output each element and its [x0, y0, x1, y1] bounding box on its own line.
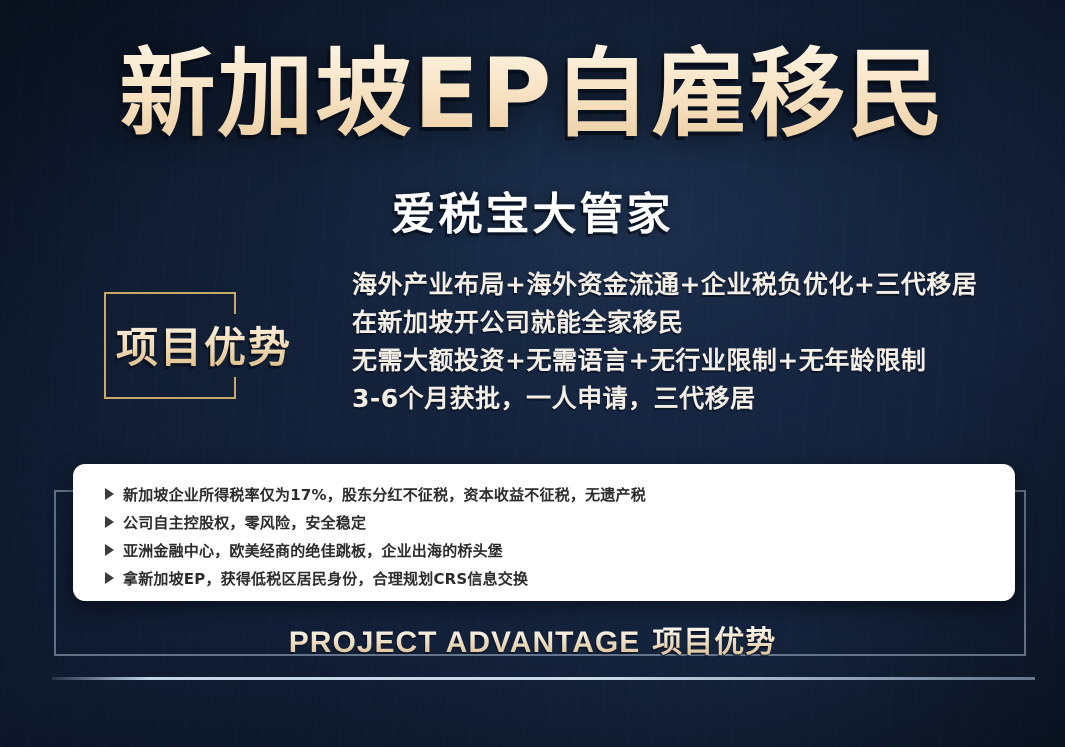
feature-line: 3-6个月获批，一人申请，三代移居 — [352, 380, 977, 418]
feature-line: 海外产业布局+海外资金流通+企业税负优化+三代移居 — [352, 266, 977, 304]
list-item-label: 亚洲金融中心，欧美经商的绝佳跳板，企业出海的桥头堡 — [123, 540, 503, 561]
feature-line: 在新加坡开公司就能全家移民 — [352, 304, 977, 342]
frame-corner-bottom-right-vertical — [234, 377, 236, 399]
triangle-bullet-icon — [105, 488, 114, 500]
feature-line: 无需大额投资+无需语言+无行业限制+无年龄限制 — [352, 342, 977, 380]
list-item-label: 新加坡企业所得税率仅为17%，股东分红不征税，资本收益不征税，无遗产税 — [123, 484, 646, 505]
footer-divider — [52, 677, 1035, 680]
feature-list: 海外产业布局+海外资金流通+企业税负优化+三代移居 在新加坡开公司就能全家移民 … — [352, 266, 977, 418]
list-item: 亚洲金融中心，欧美经商的绝佳跳板，企业出海的桥头堡 — [73, 536, 1015, 564]
footer-caption-en: PROJECT ADVANTAGE — [289, 626, 640, 659]
page-subtitle: 爱税宝大管家 — [0, 178, 1065, 242]
list-item-label: 公司自主控股权，零风险，安全稳定 — [123, 512, 366, 533]
page-title: 新加坡EP自雇移民 — [0, 44, 1065, 146]
triangle-bullet-icon — [105, 544, 114, 556]
triangle-bullet-icon — [105, 516, 114, 528]
advantages-card: 新加坡企业所得税率仅为17%，股东分红不征税，资本收益不征税，无遗产税 公司自主… — [73, 464, 1015, 601]
frame-corner-bottom-right — [204, 397, 234, 399]
poster-canvas: 新加坡EP自雇移民 爱税宝大管家 项目优势 海外产业布局+海外资金流通+企业税负… — [0, 0, 1065, 747]
project-advantage-badge: 项目优势 — [104, 292, 234, 399]
frame-corner-top-right-vertical — [234, 292, 236, 314]
badge-label: 项目优势 — [116, 314, 292, 375]
footer-caption: PROJECT ADVANTAGE项目优势 — [0, 617, 1065, 661]
list-item: 拿新加坡EP，获得低税区居民身份，合理规划CRS信息交换 — [73, 564, 1015, 592]
frame-corner-top-right — [204, 292, 234, 294]
triangle-bullet-icon — [105, 572, 114, 584]
footer-caption-cn: 项目优势 — [652, 625, 776, 660]
list-item: 公司自主控股权，零风险，安全稳定 — [73, 508, 1015, 536]
list-item-label: 拿新加坡EP，获得低税区居民身份，合理规划CRS信息交换 — [123, 568, 528, 589]
list-item: 新加坡企业所得税率仅为17%，股东分红不征税，资本收益不征税，无遗产税 — [73, 480, 1015, 508]
